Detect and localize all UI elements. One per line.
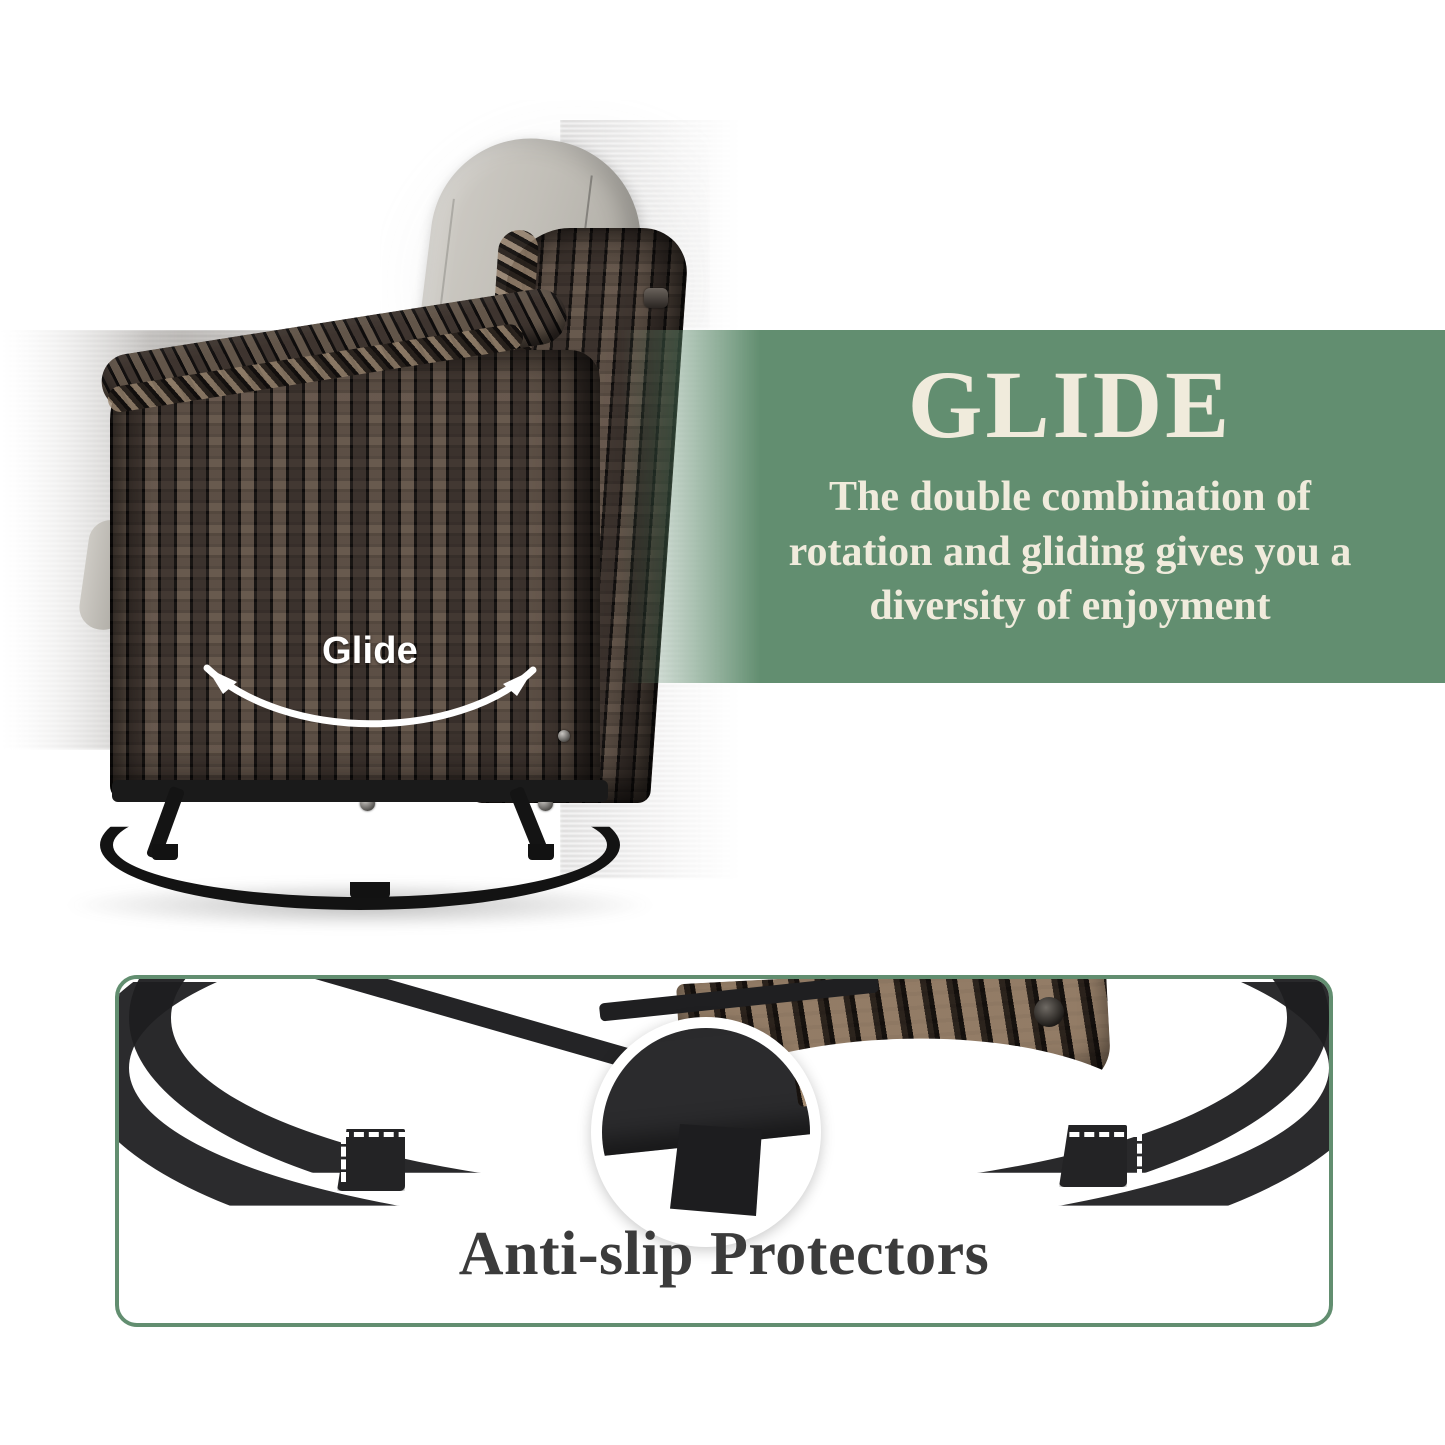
double-headed-curved-arrow-icon <box>175 650 565 745</box>
dashed-guide-vertical-left <box>341 1134 346 1182</box>
magnifier-circle-callout <box>591 1017 821 1247</box>
chair-base-foot-right <box>528 844 554 860</box>
banner-title: GLIDE <box>908 356 1232 454</box>
anti-slip-caption: Anti-slip Protectors <box>119 1219 1329 1290</box>
dashed-guide-vertical-right <box>1137 1131 1142 1179</box>
chair-base-foot-left <box>152 844 178 860</box>
glide-annotation-overlay: Glide <box>175 630 565 745</box>
anti-slip-illustration: Anti-slip Protectors <box>119 979 1329 1323</box>
anti-slip-feature-panel: Anti-slip Protectors <box>115 975 1333 1327</box>
banner-subtitle: The double combination of rotation and g… <box>765 470 1375 634</box>
product-feature-image: Glide GLIDE The double combination of ro… <box>0 0 1445 1445</box>
banner-text-block: GLIDE The double combination of rotation… <box>695 330 1445 683</box>
chair-base-foot-center <box>350 882 390 898</box>
chair-base-rail <box>112 780 608 802</box>
anti-slip-foot-left <box>337 1129 405 1191</box>
chair-back-bolt-icon <box>644 288 668 308</box>
